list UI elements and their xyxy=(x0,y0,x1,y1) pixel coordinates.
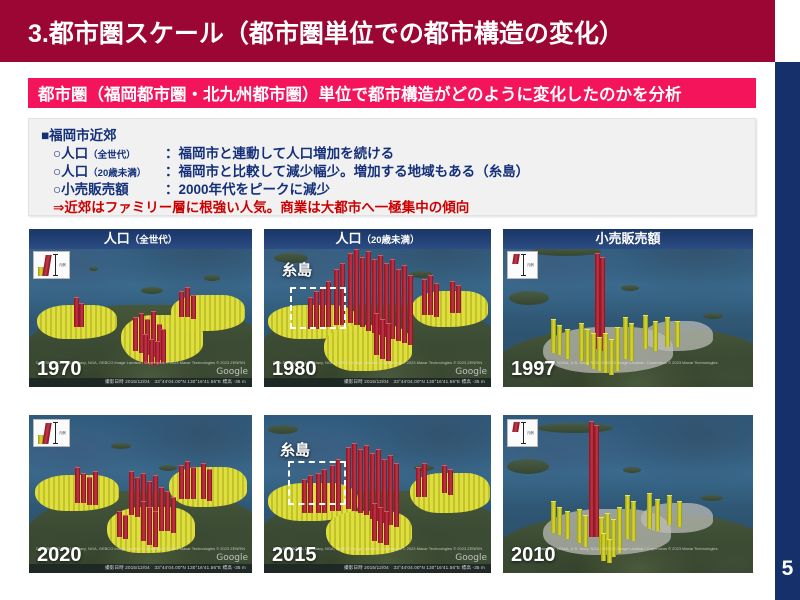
data-column xyxy=(408,275,413,345)
legend-glyph-icon xyxy=(511,254,525,276)
summary-row-label: 人口 xyxy=(61,146,88,161)
data-column xyxy=(583,515,588,547)
data-column xyxy=(667,495,672,525)
map-attribution: Data SIO, NOAA, U.S. Navy, NGA, GEBCO Im… xyxy=(36,360,245,365)
legend-glyph-icon xyxy=(37,422,57,444)
map-statusbar: 撮影日時 2015/12/04 33°44'04.00"N 130°16'41.… xyxy=(264,378,491,387)
data-column xyxy=(653,321,658,351)
data-column xyxy=(75,467,80,503)
data-column xyxy=(434,283,439,317)
data-column xyxy=(380,319,385,359)
data-column xyxy=(358,449,363,513)
map-island xyxy=(701,495,723,501)
data-column xyxy=(185,287,190,317)
data-column xyxy=(450,281,455,313)
data-column xyxy=(394,463,399,527)
itoshima-annotation-label: 糸島 xyxy=(280,439,310,460)
map-legend-inset: 凡例 xyxy=(33,251,70,279)
panel-title-sub: （20歳未満） xyxy=(361,235,419,246)
data-column xyxy=(384,511,389,545)
map-attribution: Data SIO, NOAA, U.S. Navy, NGA, GEBCO Im… xyxy=(36,546,245,551)
panel-title: 人口（20歳未満） xyxy=(264,229,491,249)
data-column xyxy=(625,495,630,539)
data-column xyxy=(129,471,134,515)
data-column xyxy=(133,317,138,351)
data-column xyxy=(675,321,680,347)
data-column xyxy=(448,469,453,495)
map-island xyxy=(89,267,98,271)
transition-arrow-down-icon xyxy=(362,390,394,407)
summary-conclusion: ⇒近郊はファミリー層に根強い人気。商業は大都市へ一極集中の傾向 xyxy=(53,196,469,216)
itoshima-annotation-box xyxy=(288,461,346,505)
summary-row-text: 福岡市と連動して人口増加を続ける xyxy=(179,146,395,161)
map-statusbar: 撮影日時 2015/12/04 33°44'04.00"N 130°16'41.… xyxy=(29,378,252,387)
subtitle-banner-text: 都市圏（福岡都市圏・北九州都市圏）単位で都市構造がどのように変化したのかを分析 xyxy=(28,81,682,105)
data-column xyxy=(135,477,140,517)
data-column xyxy=(577,509,582,543)
map-island xyxy=(509,291,549,305)
map-island xyxy=(204,275,220,281)
panel-title: 小売販売額 xyxy=(503,229,753,249)
data-column xyxy=(153,511,158,547)
panel-title-sub: （全世代） xyxy=(130,235,178,246)
legend-red-bar-icon xyxy=(512,422,520,432)
panel-title-main: 小売販売額 xyxy=(595,231,660,246)
data-column xyxy=(551,319,556,353)
map-island xyxy=(141,287,163,294)
data-column xyxy=(360,257,365,327)
data-column xyxy=(422,463,427,497)
data-column xyxy=(565,329,570,359)
data-column xyxy=(191,467,196,499)
data-column xyxy=(123,515,128,539)
itoshima-annotation-box xyxy=(290,287,346,329)
data-column xyxy=(647,493,652,529)
summary-row-population-all: ○人口（全世代） ：福岡市と連動して人口増加を続ける xyxy=(53,142,394,162)
map-panel-population-all-2020[interactable]: 凡例 2020 Google Data SIO, NOAA, U.S. Navy… xyxy=(28,414,253,574)
panel-title-main: 人口 xyxy=(104,231,130,246)
legend-red-bar-icon xyxy=(42,255,51,276)
slide-title-bar: 3.都市圏スケール（都市圏単位での都市構造の変化） xyxy=(0,0,775,62)
legend-red-bar-icon xyxy=(42,423,51,444)
data-column xyxy=(396,269,401,341)
map-panel-population-all-1970[interactable]: 凡例 人口（全世代） 1970 Google Data SIO, NOAA, U… xyxy=(28,228,253,388)
data-column xyxy=(372,503,377,541)
summary-row-text: 福岡市と比較して減少幅少。増加する地域もある（糸島） xyxy=(179,164,530,179)
page-number: 5 xyxy=(775,558,800,580)
summary-row-label: 人口 xyxy=(61,164,88,179)
map-status-text: 撮影日時 2015/12/04 33°44'04.00"N 130°16'41.… xyxy=(105,565,246,571)
subtitle-banner: 都市圏（福岡都市圏・北九州都市圏）単位で都市構造がどのように変化したのかを分析 xyxy=(28,78,756,108)
google-watermark: Google xyxy=(216,367,248,377)
summary-row-marker: ○ xyxy=(53,164,61,179)
summary-row-label: 小売販売額 xyxy=(61,182,129,197)
legend-axis-icon xyxy=(523,254,524,276)
data-column xyxy=(629,323,634,361)
map-status-text: 撮影日時 2015/12/04 33°44'04.00"N 130°16'41.… xyxy=(105,379,246,385)
map-island xyxy=(703,313,723,319)
data-column xyxy=(565,511,570,539)
map-status-text: 撮影日時 2015/12/04 33°44'04.00"N 130°16'41.… xyxy=(344,565,485,571)
data-column xyxy=(374,313,379,355)
data-column xyxy=(364,445,369,515)
transition-arrow-down-icon xyxy=(612,390,644,407)
map-panel-retail-2010[interactable]: 凡例 2010 Data SIO, NOAA, U.S. Navy, NGA, … xyxy=(502,414,754,574)
data-column xyxy=(87,477,92,505)
summary-row-marker: ○ xyxy=(53,146,61,161)
map-legend-inset: 凡例 xyxy=(33,419,70,447)
legend-axis-icon xyxy=(523,422,524,444)
data-column xyxy=(456,285,461,313)
data-column xyxy=(201,463,206,499)
map-island xyxy=(623,467,641,473)
map-attribution: Data SIO, NOAA, U.S. Navy, NGA, GEBCO Im… xyxy=(273,546,482,551)
page-title: 3.都市圏スケール（都市圏単位での都市構造の変化） xyxy=(28,14,624,50)
map-island xyxy=(159,465,177,471)
map-island xyxy=(111,443,131,449)
data-column xyxy=(643,315,648,349)
map-island xyxy=(268,425,298,434)
summary-row-sep: ： xyxy=(165,146,179,161)
data-column xyxy=(609,339,614,375)
map-panel-population-under20-2015[interactable]: 糸島 2015 Google Data SIO, NOAA, U.S. Navy… xyxy=(263,414,492,574)
data-column xyxy=(623,317,628,359)
data-column xyxy=(655,499,660,531)
map-panel-population-under20-1980[interactable]: 糸島 人口（20歳未満） 1980 Google Data SIO, NOAA,… xyxy=(263,228,492,388)
data-column xyxy=(185,461,190,499)
data-column xyxy=(171,497,176,533)
summary-box: ■福岡市近郊 ○人口（全世代） ：福岡市と連動して人口増加を続ける ○人口（20… xyxy=(28,118,756,216)
map-attribution: Data SIO, NOAA, U.S. Navy, NGA, GEBCO Im… xyxy=(273,360,482,365)
map-legend-inset: 凡例 xyxy=(507,419,538,447)
map-panel-retail-1997[interactable]: 凡例 小売販売額 1997 Data SIO, NOAA, U.S. Navy,… xyxy=(502,228,754,388)
data-column xyxy=(428,275,433,315)
data-column xyxy=(207,469,212,501)
google-watermark: Google xyxy=(455,553,487,563)
data-column xyxy=(366,251,371,331)
data-column xyxy=(346,447,351,509)
map-legend-inset: 凡例 xyxy=(507,251,538,279)
summary-row-retail: ○小売販売額 ：2000年代をピークに減少 xyxy=(53,178,330,198)
summary-row-sep: ： xyxy=(165,182,179,197)
map-island xyxy=(537,423,613,433)
data-column xyxy=(557,507,562,535)
transition-arrow-down-icon xyxy=(124,390,156,407)
data-column xyxy=(179,291,184,317)
legend-axis-icon xyxy=(55,422,56,444)
data-column xyxy=(191,295,196,319)
right-accent-rail xyxy=(775,62,800,600)
data-column xyxy=(607,539,612,563)
map-status-text: 撮影日時 2015/12/04 33°44'04.00"N 130°16'41.… xyxy=(344,379,485,385)
legend-label: 凡例 xyxy=(525,263,534,267)
data-column xyxy=(631,501,636,541)
map-attribution: Data SIO, NOAA, U.S. Navy, NGA, GEBCO Im… xyxy=(538,360,717,365)
legend-glyph-icon xyxy=(511,422,525,444)
data-column xyxy=(603,333,608,373)
data-column xyxy=(378,507,383,543)
data-column xyxy=(161,329,166,363)
data-column xyxy=(354,249,359,325)
legend-label: 凡例 xyxy=(525,431,534,435)
data-column xyxy=(117,511,122,537)
data-column xyxy=(402,265,407,343)
data-column xyxy=(557,325,562,355)
data-column xyxy=(665,317,670,347)
data-column xyxy=(579,323,584,361)
map-attribution: Data SIO, NOAA, U.S. Navy, NGA, GEBCO Im… xyxy=(538,546,717,551)
legend-axis-icon xyxy=(55,254,56,276)
map-island xyxy=(507,459,549,474)
google-watermark: Google xyxy=(216,553,248,563)
data-column xyxy=(551,501,556,533)
itoshima-annotation-label: 糸島 xyxy=(282,259,312,280)
data-column xyxy=(141,501,146,541)
legend-label: 凡例 xyxy=(57,263,66,267)
data-column xyxy=(416,467,421,497)
panel-title-main: 人口 xyxy=(335,231,361,246)
data-column xyxy=(422,279,427,315)
legend-glyph-icon xyxy=(37,254,57,276)
map-statusbar: 撮影日時 2015/12/04 33°44'04.00"N 130°16'41.… xyxy=(29,564,252,573)
google-watermark: Google xyxy=(455,367,487,377)
data-column xyxy=(79,303,84,327)
data-column xyxy=(386,323,391,361)
map-island xyxy=(621,285,639,291)
data-column xyxy=(147,507,152,545)
map-statusbar: 撮影日時 2015/12/04 33°44'04.00"N 130°16'41.… xyxy=(264,564,491,573)
data-column xyxy=(677,501,682,527)
data-column xyxy=(159,487,164,531)
data-column xyxy=(81,473,86,503)
data-column xyxy=(597,337,602,371)
data-column xyxy=(93,471,98,505)
data-column xyxy=(352,443,357,511)
panel-title: 人口（全世代） xyxy=(29,229,252,249)
summary-row-marker: ○ xyxy=(53,182,61,197)
summary-row-text: 2000年代をピークに減少 xyxy=(179,182,331,197)
data-column xyxy=(348,253,353,323)
summary-row-sep: ： xyxy=(165,164,179,179)
legend-red-bar-icon xyxy=(512,254,520,264)
legend-label: 凡例 xyxy=(57,431,66,435)
summary-row-population-under20: ○人口（20歳未満） ：福岡市と比較して減少幅少。増加する地域もある（糸島） xyxy=(53,160,529,180)
data-column xyxy=(442,465,447,493)
data-column xyxy=(179,465,184,499)
summary-heading: ■福岡市近郊 xyxy=(41,124,117,144)
data-column xyxy=(165,491,170,531)
